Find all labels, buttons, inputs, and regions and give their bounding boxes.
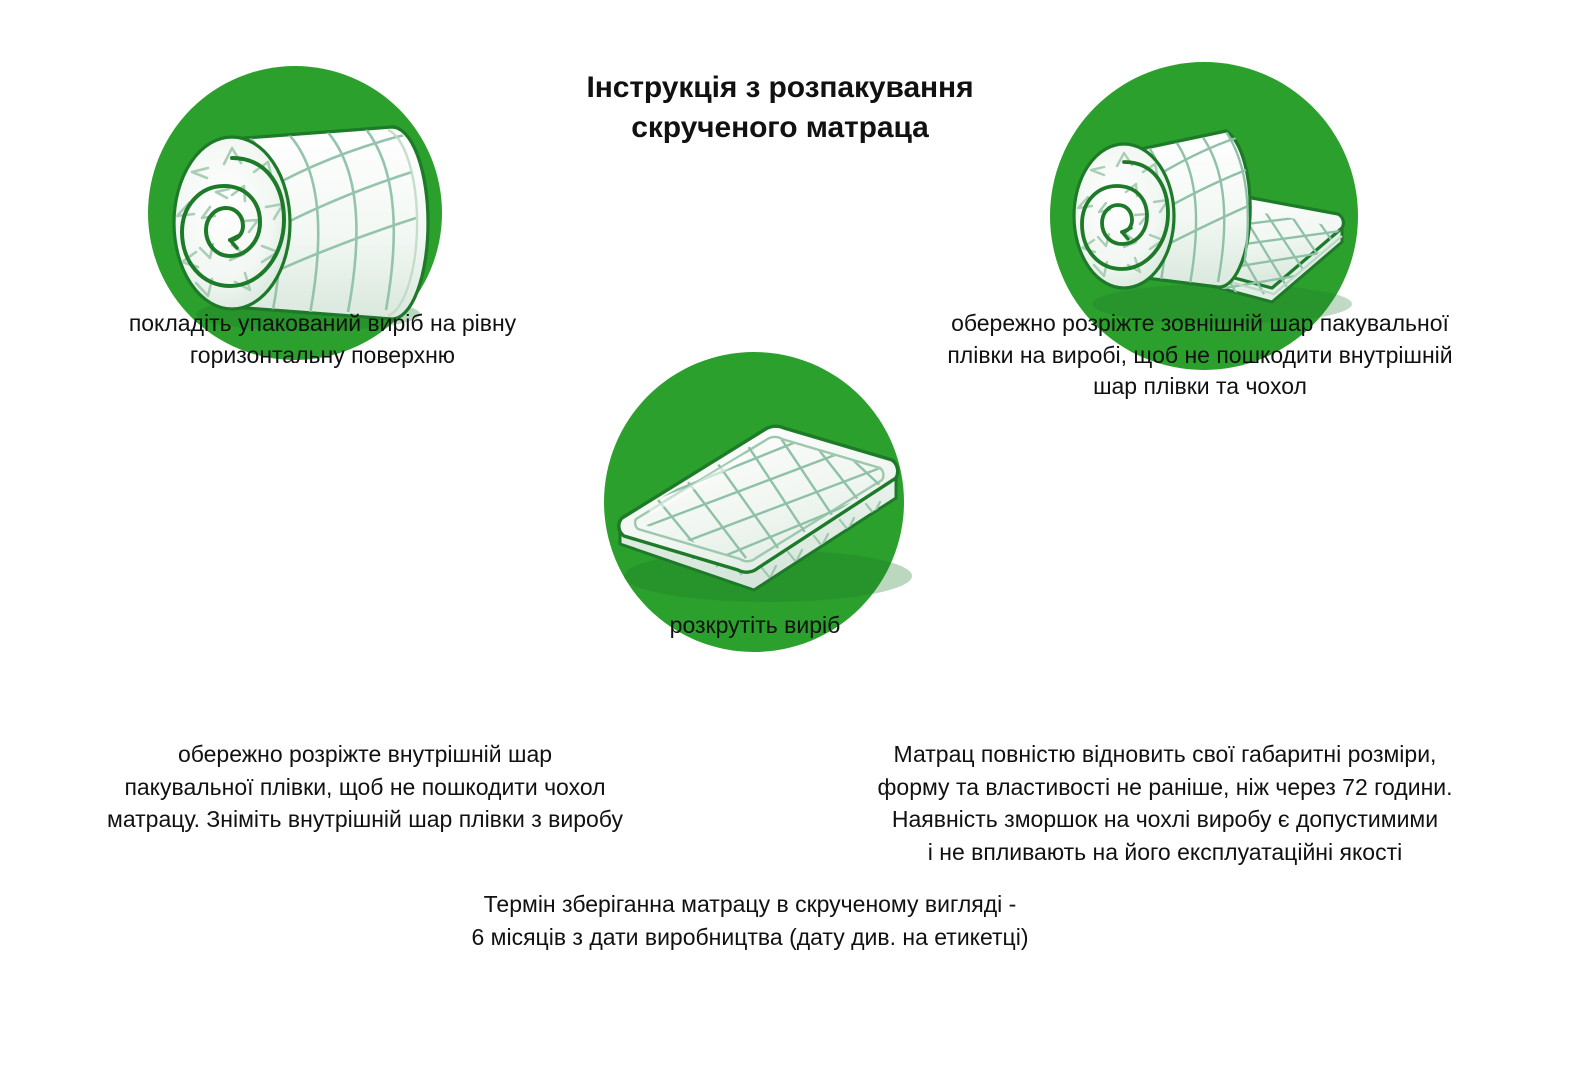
- rolled-mattress-icon: [140, 100, 460, 330]
- storage-period-note: Термін зберіганна матрацу в скрученому в…: [380, 888, 1120, 953]
- step-2-caption: обережно розріжте зовнішній шар пакуваль…: [880, 308, 1520, 403]
- infographic-canvas: Інструкція з розпакування скрученого мат…: [0, 0, 1577, 1080]
- inner-film-note: обережно розріжте внутрішній шар пакувал…: [20, 738, 710, 836]
- step-3-caption: розкрутіть виріб: [610, 610, 900, 642]
- flat-mattress-icon: [596, 400, 926, 630]
- page-title: Інструкція з розпакування скрученого мат…: [430, 68, 1130, 147]
- recovery-time-note: Матрац повністю відновить свої габаритні…: [800, 738, 1530, 869]
- step-1-caption: покладіть упакований виріб на рівну гори…: [50, 308, 595, 371]
